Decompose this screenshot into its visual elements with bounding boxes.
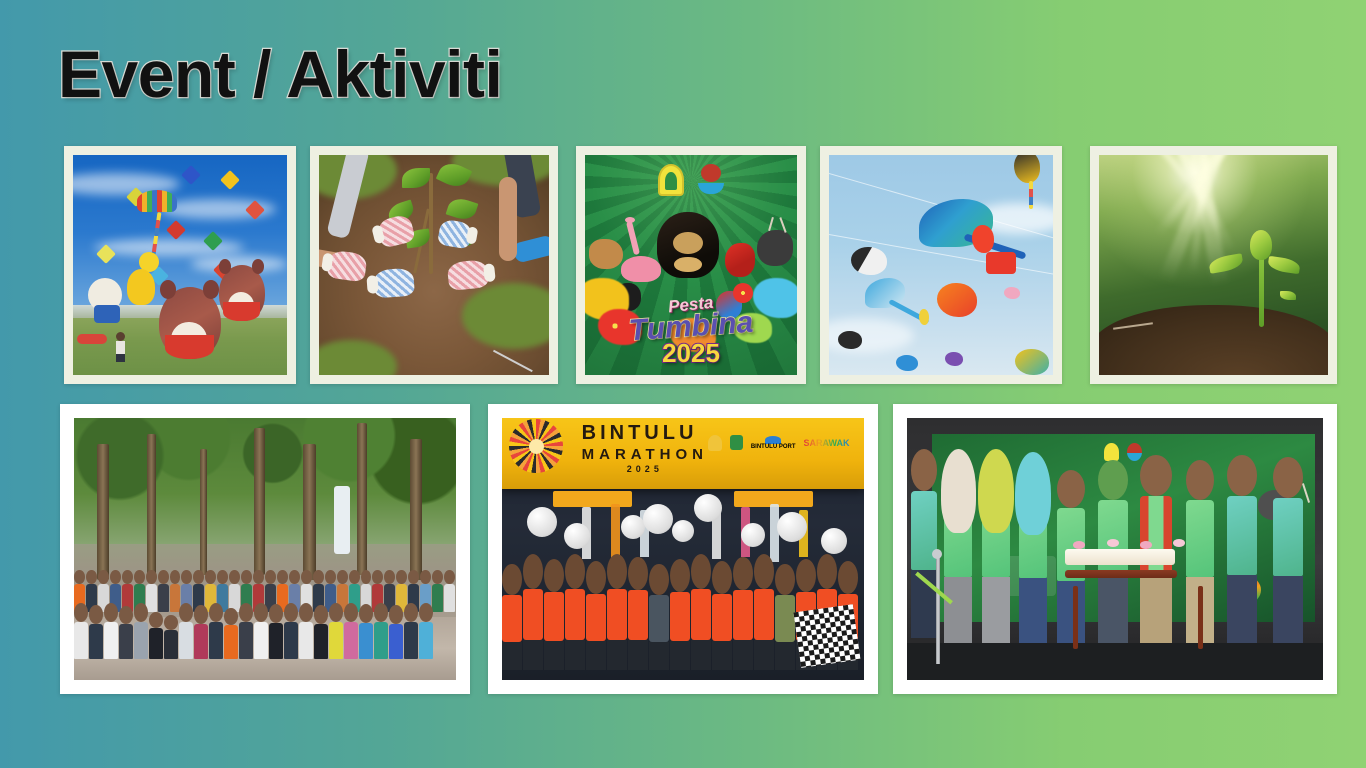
gallery-item-pesta-tumbina-poster[interactable]: Pesta Tumbina 2025 [576, 146, 806, 384]
balloon [741, 523, 765, 547]
council-logo-icon [730, 435, 743, 450]
photo-community-run-group [74, 418, 456, 680]
gallery-item-tree-planting-hands[interactable] [310, 146, 558, 384]
sky-kites-scene [829, 155, 1053, 375]
bintulu-port-logo-icon: BINTULU PORT [751, 436, 796, 450]
bintulu-marathon-scene: BINTULU MARATHON 2025 BINTULU PORT SARAW… [502, 418, 864, 680]
checkered-flag [793, 604, 860, 668]
balloon [527, 507, 557, 537]
cake-ceremony-scene [907, 418, 1323, 680]
official-person [1019, 463, 1047, 644]
cake-table [1065, 570, 1177, 578]
photo-bintulu-marathon: BINTULU MARATHON 2025 BINTULU PORT SARAW… [502, 418, 864, 680]
banner-line-marathon: MARATHON [582, 446, 708, 463]
glove-blue-lower [373, 268, 415, 299]
bintulu-port-label: BINTULU PORT [751, 444, 796, 450]
page-title: Event / Aktiviti [58, 40, 502, 109]
sunbear-illustration [657, 212, 719, 278]
state-crest-logo-icon [708, 435, 722, 451]
flamingo-illustration [621, 256, 661, 282]
pesta-tumbina-scene: Pesta Tumbina 2025 [585, 155, 797, 375]
ceremonial-cake [1065, 549, 1175, 565]
photo-sky-kites [829, 155, 1053, 375]
gallery-item-bintulu-marathon[interactable]: BINTULU MARATHON 2025 BINTULU PORT SARAW… [488, 404, 878, 694]
glove-pink-left [326, 249, 368, 282]
marathon-sunburst-logo-icon [509, 419, 563, 473]
community-run-scene [74, 418, 456, 680]
glove-pink-right [446, 259, 489, 291]
photo-pesta-tumbina-poster: Pesta Tumbina 2025 [585, 155, 797, 375]
photo-tree-planting-hands [319, 155, 549, 375]
sarawak-logo-label: SARAWAK [804, 438, 850, 448]
balloon [672, 520, 694, 542]
gallery-item-sky-kites[interactable] [820, 146, 1062, 384]
photo-kite-festival-field [73, 155, 287, 375]
orange-animal-kite [937, 283, 977, 317]
arch-emblem-icon [658, 164, 684, 196]
marathon-banner-text: BINTULU MARATHON 2025 [582, 422, 708, 474]
poster-logo-row [585, 164, 797, 196]
gallery-item-community-run-group[interactable] [60, 404, 470, 694]
parrot-red-illustration [725, 243, 755, 277]
official-person [982, 460, 1010, 643]
balloon [694, 494, 722, 522]
glove-blue-right [437, 218, 473, 249]
squirrel-kite-small [219, 265, 265, 321]
official-person [944, 460, 972, 643]
balloon [821, 528, 847, 554]
gallery-item-kite-festival-field[interactable] [64, 146, 296, 384]
poster-title-block: Pesta Tumbina 2025 [585, 296, 797, 366]
seedling-scene [1099, 155, 1328, 375]
stanchion-post [936, 554, 940, 664]
marathon-sponsor-logos: BINTULU PORT SARAWAK [708, 435, 850, 451]
event-banner-stand [334, 486, 350, 554]
gallery-item-seedling-soil[interactable] [1090, 146, 1337, 384]
gallery-item-cake-cutting-ceremony[interactable] [893, 404, 1337, 694]
globe-leaf-icon [698, 164, 724, 196]
marathon-arch-banner: BINTULU MARATHON 2025 BINTULU PORT SARAW… [502, 418, 864, 489]
official-person [911, 449, 937, 638]
balloon [564, 523, 590, 549]
official-person [1273, 457, 1303, 643]
seedling-right-leaf [1268, 256, 1302, 274]
banner-line-bintulu: BINTULU [582, 422, 708, 445]
tree-planting-scene [319, 155, 549, 375]
arch-emblem-icon [1104, 443, 1119, 461]
banner-line-year: 2025 [582, 464, 708, 474]
photo-cake-cutting-ceremony [907, 418, 1323, 680]
deer-illustration [757, 230, 793, 266]
kite-festival-scene [73, 155, 287, 375]
backdrop-logo-row [1104, 443, 1142, 461]
animal-illustration-left [589, 239, 623, 269]
slide-canvas: Event / Aktiviti [0, 0, 1366, 768]
squirrel-kite-large [159, 287, 221, 359]
photo-seedling-soil [1099, 155, 1328, 375]
balloon [643, 504, 673, 534]
official-person [1227, 455, 1257, 644]
